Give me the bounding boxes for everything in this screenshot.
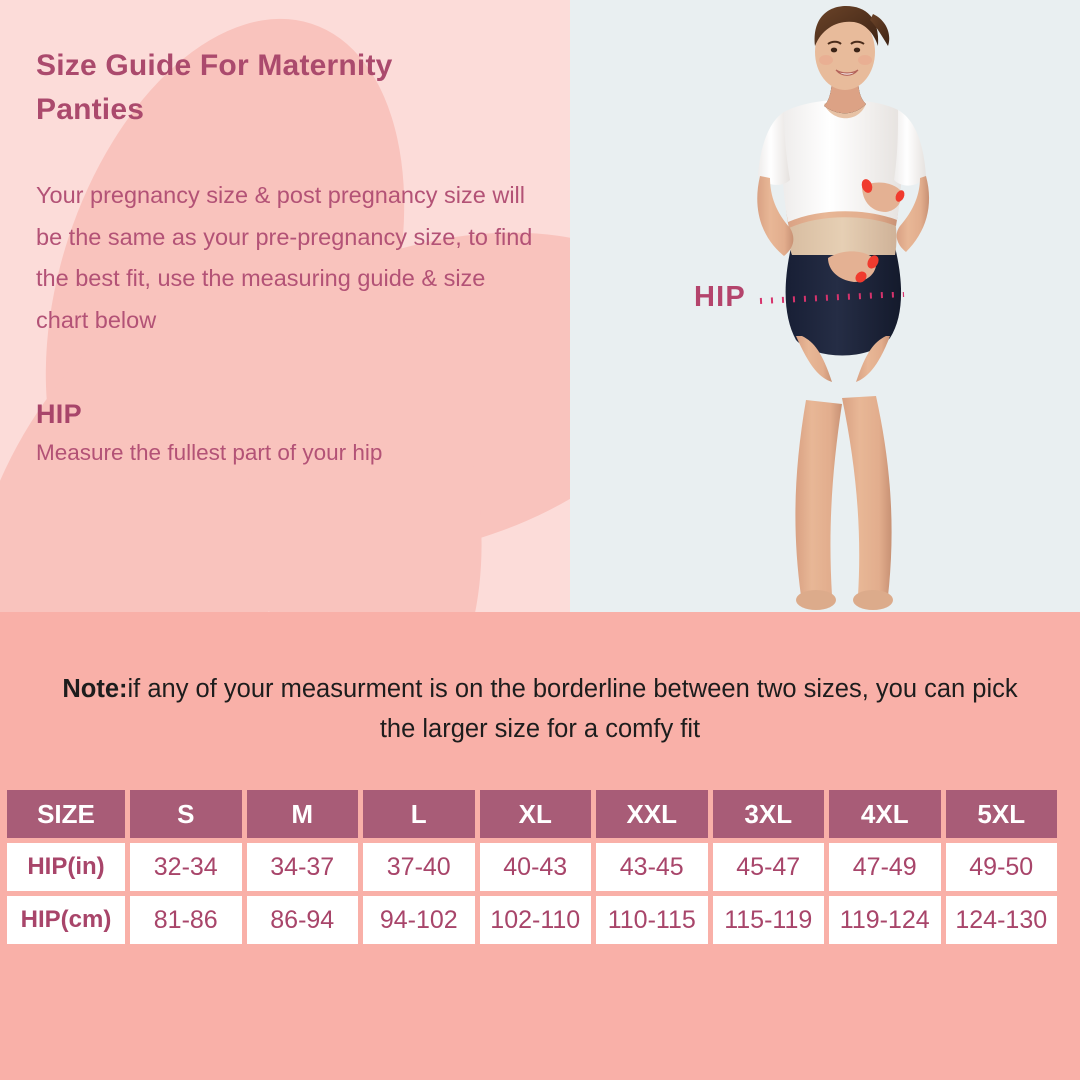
table-cell: 37-40 (363, 843, 475, 891)
table-header-cell: 4XL (829, 790, 941, 838)
note-label: Note: (62, 675, 127, 703)
note-text: Note:if any of your measurment is on the… (0, 612, 1080, 749)
table-cell: 119-124 (829, 896, 941, 944)
table-cell: 86-94 (247, 896, 359, 944)
table-cell: 102-110 (480, 896, 592, 944)
row-label: HIP(in) (7, 843, 125, 891)
hip-measure-label: HIP (694, 281, 746, 314)
table-cell: 81-86 (130, 896, 242, 944)
hip-section-description: Measure the fullest part of your hip (36, 436, 534, 470)
page-title: Size Guide For Maternity Panties (36, 44, 476, 131)
table-header-cell: 3XL (713, 790, 825, 838)
table-header-cell: M (247, 790, 359, 838)
table-header-cell: XL (480, 790, 592, 838)
table-cell: 40-43 (480, 843, 592, 891)
table-header-row: SIZE S M L XL XXL 3XL 4XL 5XL (7, 790, 1057, 838)
table-cell: 47-49 (829, 843, 941, 891)
table-cell: 45-47 (713, 843, 825, 891)
model-photo (570, 0, 1080, 612)
table-cell: 49-50 (946, 843, 1058, 891)
table-cell: 34-37 (247, 843, 359, 891)
table-cell: 124-130 (946, 896, 1058, 944)
note-and-table-band: Note:if any of your measurment is on the… (0, 612, 1080, 1080)
hip-measure-dotted-line-icon (758, 292, 906, 304)
table-cell: 110-115 (596, 896, 708, 944)
info-panel: Size Guide For Maternity Panties Your pr… (0, 0, 570, 612)
table-header-cell: 5XL (946, 790, 1058, 838)
hip-section-heading: HIP (36, 399, 534, 430)
note-body: if any of your measurment is on the bord… (128, 675, 1018, 743)
table-header-cell: S (130, 790, 242, 838)
table-header-cell: L (363, 790, 475, 838)
table-cell: 32-34 (130, 843, 242, 891)
table-cell: 115-119 (713, 896, 825, 944)
size-chart-table: SIZE S M L XL XXL 3XL 4XL 5XL HIP(in) 32… (7, 790, 1057, 944)
table-header-cell: SIZE (7, 790, 125, 838)
model-photo-panel: HIP (570, 0, 1080, 612)
table-cell: 43-45 (596, 843, 708, 891)
table-row: HIP(in) 32-34 34-37 37-40 40-43 43-45 45… (7, 843, 1057, 891)
table-row: HIP(cm) 81-86 86-94 94-102 102-110 110-1… (7, 896, 1057, 944)
table-cell: 94-102 (363, 896, 475, 944)
size-guide-page: Size Guide For Maternity Panties Your pr… (0, 0, 1080, 1080)
table-header-cell: XXL (596, 790, 708, 838)
intro-paragraph: Your pregnancy size & post pregnancy siz… (36, 175, 534, 341)
row-label: HIP(cm) (7, 896, 125, 944)
